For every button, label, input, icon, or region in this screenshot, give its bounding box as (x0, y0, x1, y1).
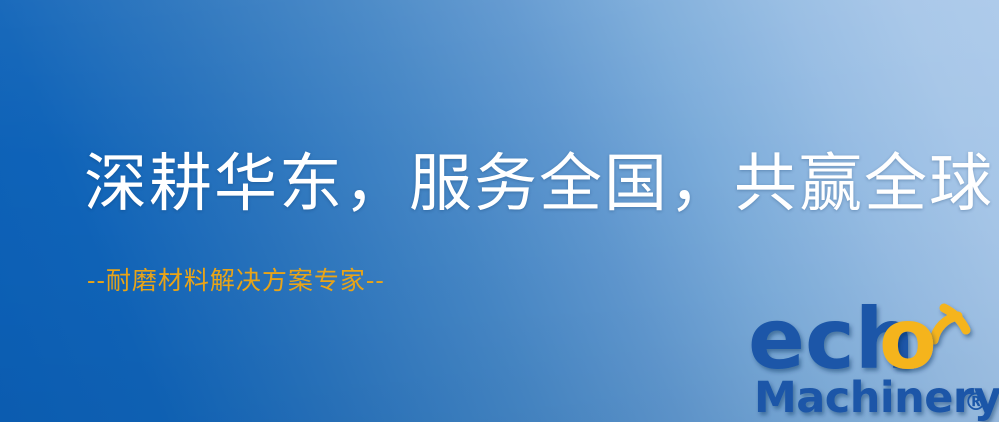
banner-headline: 深耕华东，服务全国，共赢全球 (84, 152, 994, 215)
echo-machinery-logo[interactable]: ech o Machinery ® (748, 296, 999, 422)
promo-banner: 深耕华东，服务全国，共赢全球 --耐磨材料解决方案专家-- ech o Mach… (0, 0, 999, 422)
logo-text-machinery: Machinery (754, 373, 999, 422)
signal-waves-icon (934, 308, 966, 340)
banner-subtitle: --耐磨材料解决方案专家-- (87, 268, 385, 293)
registered-trademark-icon: ® (964, 388, 988, 416)
